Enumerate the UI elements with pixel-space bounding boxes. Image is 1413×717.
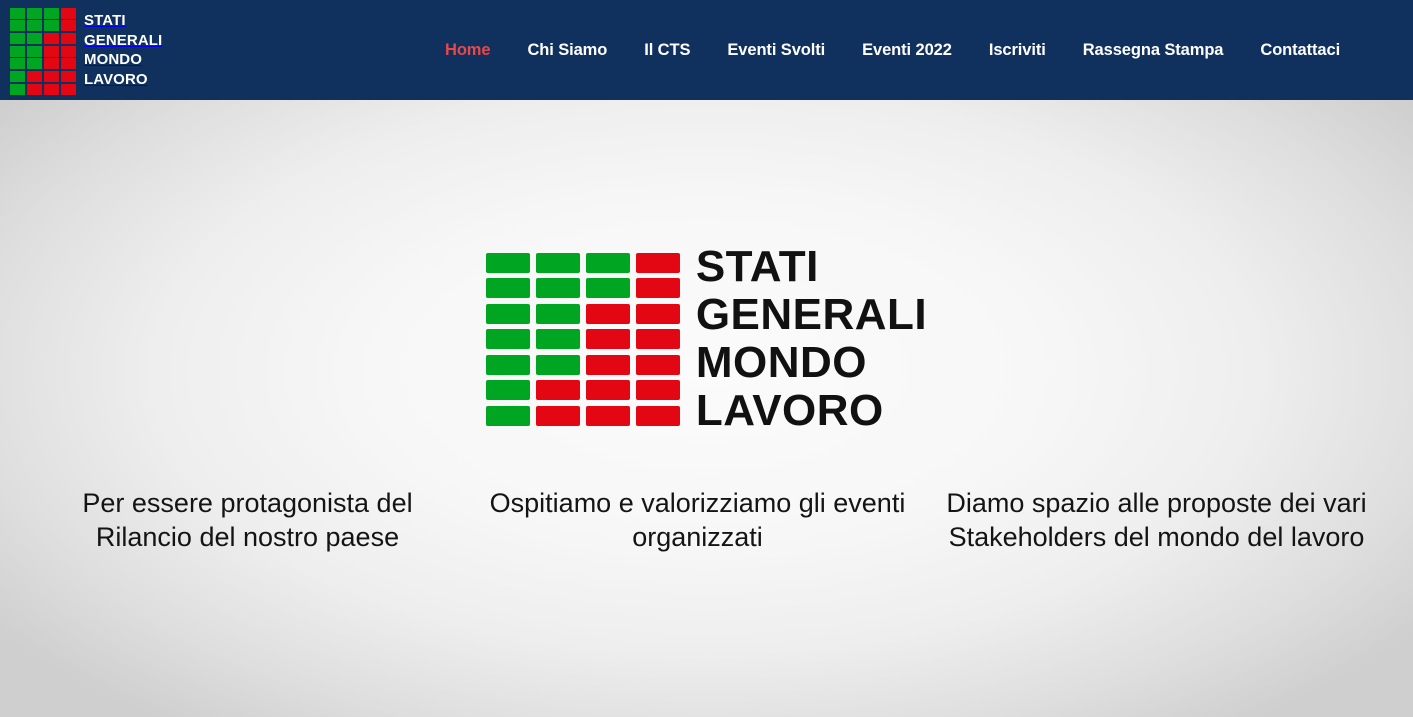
tagline-column-1: Per essere protagonista del Rilancio del… [20, 486, 475, 554]
flag-tile-5-1 [486, 355, 530, 375]
flag-tile-4-1 [10, 46, 25, 57]
tagline-column-2: Ospitiamo e valorizziamo gli eventi orga… [475, 486, 920, 554]
hero-line-4: LAVORO [696, 387, 927, 435]
flag-tile-2-1 [10, 20, 25, 31]
tagline-column-3: Diamo spazio alle proposte dei vari Stak… [920, 486, 1393, 554]
flag-tile-6-2 [27, 71, 42, 82]
nav-item-contattaci[interactable]: Contattaci [1260, 35, 1340, 66]
flag-tile-3-2 [536, 304, 580, 324]
nav-item-il-cts[interactable]: Il CTS [644, 35, 690, 66]
hero-line-2: GENERALI [696, 291, 927, 339]
hero-wordmark: STATI GENERALI MONDO LAVORO [696, 243, 927, 435]
flag-tile-3-1 [10, 33, 25, 44]
flag-tile-4-4 [636, 329, 680, 349]
flag-tile-2-2 [27, 20, 42, 31]
flag-tile-5-4 [636, 355, 680, 375]
flag-tile-3-2 [27, 33, 42, 44]
flag-tile-6-1 [10, 71, 25, 82]
nav-item-eventi-svolti[interactable]: Eventi Svolti [727, 35, 825, 66]
flag-tile-4-3 [44, 46, 59, 57]
hero-section: STATI GENERALI MONDO LAVORO Per essere p… [0, 100, 1413, 717]
nav-item-home[interactable]: Home [445, 35, 490, 66]
tagline-columns: Per essere protagonista del Rilancio del… [0, 486, 1413, 554]
hero-logo: STATI GENERALI MONDO LAVORO [0, 243, 1413, 435]
flag-tile-4-4 [61, 46, 76, 57]
flag-tile-6-4 [61, 71, 76, 82]
flag-tile-2-2 [536, 278, 580, 298]
flag-tile-2-1 [486, 278, 530, 298]
flag-tile-7-2 [27, 84, 42, 95]
brand-wordmark: STATI GENERALI MONDO LAVORO [84, 11, 162, 89]
flag-tile-2-4 [61, 20, 76, 31]
flag-tile-4-2 [536, 329, 580, 349]
flag-tile-4-2 [27, 46, 42, 57]
flag-tile-3-4 [636, 304, 680, 324]
flag-tile-6-1 [486, 380, 530, 400]
flag-tile-4-3 [586, 329, 630, 349]
main-navigation: Home Chi Siamo Il CTS Eventi Svolti Even… [445, 0, 1340, 100]
hero-flag-grid-icon [486, 253, 680, 426]
hero-line-3: MONDO [696, 339, 927, 387]
hero-line-1: STATI [696, 243, 927, 291]
flag-tile-1-1 [486, 253, 530, 273]
flag-tile-5-4 [61, 58, 76, 69]
flag-tile-3-3 [44, 33, 59, 44]
flag-tile-5-3 [586, 355, 630, 375]
brand-flag-grid-icon [10, 8, 76, 93]
flag-tile-7-1 [10, 84, 25, 95]
brand-line-4: LAVORO [84, 70, 162, 90]
flag-tile-5-2 [27, 58, 42, 69]
brand-line-3: MONDO [84, 50, 162, 70]
flag-tile-5-2 [536, 355, 580, 375]
header-brand-link[interactable]: STATI GENERALI MONDO LAVORO [0, 6, 162, 94]
flag-tile-3-1 [486, 304, 530, 324]
flag-tile-3-4 [61, 33, 76, 44]
flag-tile-7-4 [636, 406, 680, 426]
flag-tile-5-3 [44, 58, 59, 69]
nav-item-rassegna-stampa[interactable]: Rassegna Stampa [1083, 35, 1224, 66]
flag-tile-4-1 [486, 329, 530, 349]
nav-item-chi-siamo[interactable]: Chi Siamo [527, 35, 607, 66]
flag-tile-7-1 [486, 406, 530, 426]
flag-tile-6-3 [44, 71, 59, 82]
flag-tile-5-1 [10, 58, 25, 69]
flag-tile-7-2 [536, 406, 580, 426]
flag-tile-6-2 [536, 380, 580, 400]
flag-tile-6-3 [586, 380, 630, 400]
flag-tile-2-3 [586, 278, 630, 298]
flag-tile-3-3 [586, 304, 630, 324]
flag-tile-1-1 [10, 8, 25, 19]
flag-tile-1-2 [27, 8, 42, 19]
flag-tile-7-4 [61, 84, 76, 95]
flag-tile-2-4 [636, 278, 680, 298]
nav-item-iscriviti[interactable]: Iscriviti [989, 35, 1046, 66]
brand-line-2: GENERALI [84, 31, 162, 51]
flag-tile-1-3 [586, 253, 630, 273]
flag-tile-1-2 [536, 253, 580, 273]
brand-line-1: STATI [84, 11, 162, 31]
flag-tile-1-4 [61, 8, 76, 19]
flag-tile-7-3 [44, 84, 59, 95]
site-header: STATI GENERALI MONDO LAVORO Home Chi Sia… [0, 0, 1413, 100]
flag-tile-7-3 [586, 406, 630, 426]
flag-tile-1-4 [636, 253, 680, 273]
flag-tile-2-3 [44, 20, 59, 31]
flag-tile-1-3 [44, 8, 59, 19]
nav-item-eventi-2022[interactable]: Eventi 2022 [862, 35, 952, 66]
flag-tile-6-4 [636, 380, 680, 400]
